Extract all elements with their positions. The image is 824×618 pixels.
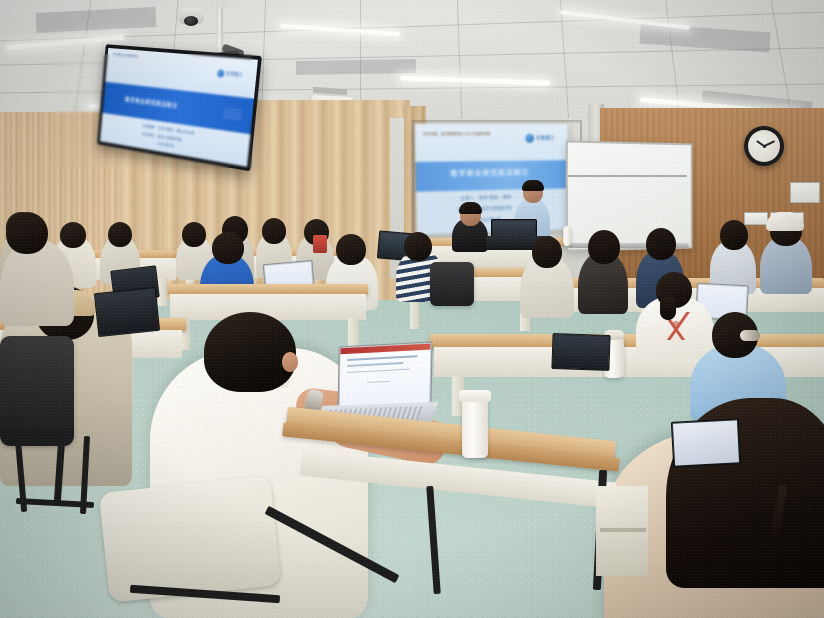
ponytail bbox=[660, 296, 676, 320]
laptop-screen-content bbox=[340, 344, 431, 411]
white-baseball-cap bbox=[766, 212, 804, 231]
camera-drop-pole bbox=[216, 0, 223, 52]
student-head bbox=[212, 232, 244, 264]
chair bbox=[99, 475, 282, 602]
clock-center-pin bbox=[763, 145, 766, 148]
desk bbox=[430, 334, 824, 348]
student-head bbox=[108, 222, 132, 247]
coffee-cup bbox=[462, 396, 488, 458]
student-head bbox=[646, 228, 676, 260]
desk-shelf-divider bbox=[600, 528, 646, 532]
ear bbox=[282, 352, 298, 372]
coffee-cup-lid bbox=[459, 390, 491, 402]
student-head bbox=[336, 234, 366, 265]
student-head bbox=[6, 212, 48, 254]
notice-sign bbox=[790, 182, 820, 203]
laptop-screen-content bbox=[553, 335, 608, 369]
red-bag bbox=[313, 235, 327, 253]
switch-plate bbox=[744, 212, 768, 225]
laptop bbox=[671, 418, 741, 467]
student-head bbox=[182, 222, 206, 247]
desk-leg bbox=[158, 278, 167, 306]
student-head bbox=[588, 230, 620, 264]
hair-scrunchie bbox=[740, 330, 760, 341]
student-head bbox=[262, 218, 286, 244]
student-head bbox=[404, 232, 432, 261]
water-bottle bbox=[563, 226, 571, 246]
laptop-screen-content bbox=[673, 420, 739, 465]
student-upper-left bbox=[0, 240, 74, 326]
camera-pole-cap bbox=[210, 0, 229, 7]
classroom-photo: 学术报告 经济管理学院 东莞理工 数字商业研究前沿探讨 主讲嘉宾：张伟 教授／博… bbox=[0, 0, 824, 618]
tv-blur-overlay bbox=[54, 54, 252, 168]
presenter-seated-hair bbox=[459, 202, 482, 214]
dome-camera-lens bbox=[184, 16, 198, 26]
laptop bbox=[551, 333, 610, 371]
presenter-standing-hair bbox=[522, 180, 544, 191]
laptop bbox=[94, 287, 160, 337]
desk-leg bbox=[410, 299, 419, 329]
student-head bbox=[532, 236, 562, 268]
laptop-screen-content bbox=[96, 289, 158, 335]
student-head bbox=[720, 220, 748, 250]
chair bbox=[430, 262, 474, 306]
foreground-head bbox=[204, 312, 296, 392]
whiteboard-divider bbox=[568, 175, 687, 177]
student-head bbox=[60, 222, 86, 248]
clock-face bbox=[748, 130, 780, 162]
